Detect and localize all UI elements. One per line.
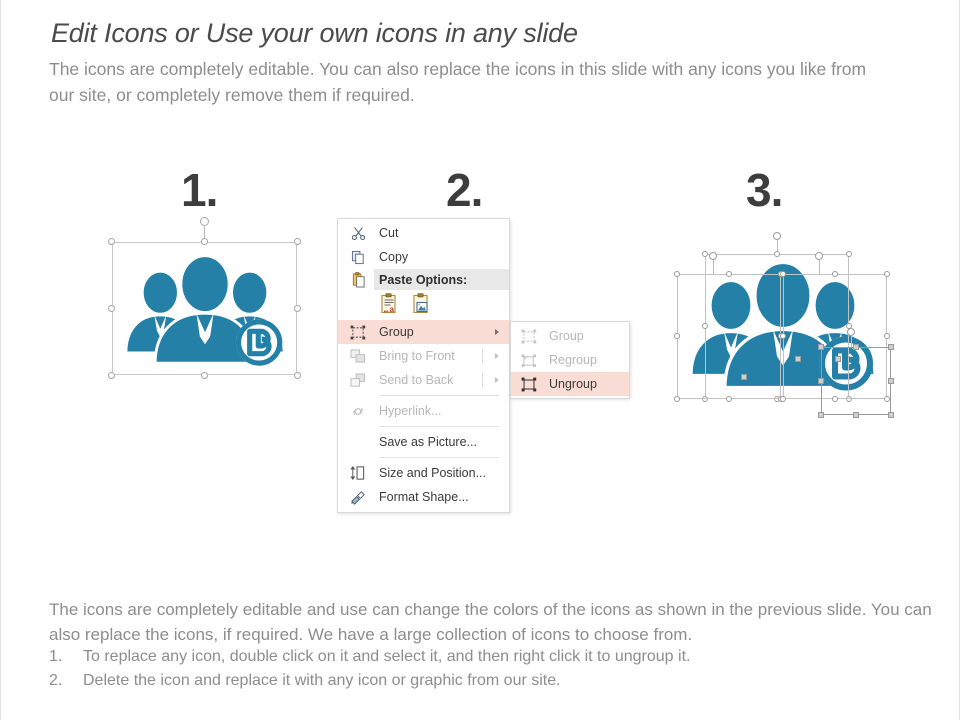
handle-badge-se[interactable] xyxy=(888,412,894,418)
menu-divider-vertical xyxy=(482,349,483,363)
list-item-text: Delete the icon and replace it with any … xyxy=(83,669,561,693)
context-submenu-group[interactable]: Group Regroup Ungroup xyxy=(510,321,630,399)
handle-right-se[interactable] xyxy=(884,396,890,402)
resize-handle-nw[interactable] xyxy=(108,238,115,245)
footer-list: 1. To replace any icon, double click on … xyxy=(49,645,929,693)
rotate-handle-center[interactable] xyxy=(773,232,781,240)
paste-keep-text-icon[interactable]: a xyxy=(379,293,399,317)
menu-item-label: Cut xyxy=(379,226,398,240)
handle-left-sw[interactable] xyxy=(674,396,680,402)
menu-item-label: Size and Position... xyxy=(379,466,486,480)
group-icon xyxy=(348,323,368,341)
menu-item-label: Save as Picture... xyxy=(379,435,477,449)
context-menu[interactable]: Cut Copy Paste Options: xyxy=(337,218,510,513)
team-users-blogger-icon-3[interactable] xyxy=(683,252,883,397)
bring-to-front-icon xyxy=(348,347,368,365)
chevron-right-icon xyxy=(495,353,499,359)
paste-icon xyxy=(348,271,368,289)
submenu-item-label: Regroup xyxy=(549,353,597,367)
list-item-number: 1. xyxy=(49,645,83,669)
scissors-icon xyxy=(348,224,368,242)
handle-left-nw[interactable] xyxy=(674,271,680,277)
page-title: Edit Icons or Use your own icons in any … xyxy=(51,18,578,49)
size-and-position-icon xyxy=(348,464,368,482)
menu-item-copy[interactable]: Copy xyxy=(338,245,509,269)
step-number-3: 3. xyxy=(746,163,782,217)
rotate-handle[interactable] xyxy=(200,217,209,226)
resize-handle-n[interactable] xyxy=(201,238,208,245)
page-subtitle: The icons are completely editable. You c… xyxy=(49,56,879,108)
menu-item-label: Bring to Front xyxy=(379,349,455,363)
resize-handle-s[interactable] xyxy=(201,372,208,379)
slide-canvas: Edit Icons or Use your own icons in any … xyxy=(0,0,960,720)
regroup-icon xyxy=(519,351,539,369)
menu-paste-options-header: Paste Options: xyxy=(338,269,509,290)
menu-divider-1 xyxy=(379,395,499,396)
menu-item-label: Hyperlink... xyxy=(379,404,442,418)
hyperlink-icon xyxy=(348,402,368,420)
menu-item-label: Format Shape... xyxy=(379,490,469,504)
submenu-item-label: Group xyxy=(549,329,584,343)
menu-item-group[interactable]: Group xyxy=(338,320,509,344)
menu-item-send-to-back[interactable]: Send to Back xyxy=(338,368,509,392)
handle-badge-ne[interactable] xyxy=(888,344,894,350)
resize-handle-sw[interactable] xyxy=(108,372,115,379)
chevron-right-icon xyxy=(495,377,499,383)
ungroup-icon xyxy=(519,375,539,393)
format-shape-icon xyxy=(348,488,368,506)
menu-divider-vertical xyxy=(482,373,483,387)
send-to-back-icon xyxy=(348,371,368,389)
handle-left-w[interactable] xyxy=(674,333,680,339)
list-item-text: To replace any icon, double click on it … xyxy=(83,645,690,669)
handle-badge-e[interactable] xyxy=(888,378,894,384)
step-number-1: 1. xyxy=(181,163,217,217)
handle-right-e[interactable] xyxy=(884,333,890,339)
step-number-2: 2. xyxy=(446,163,482,217)
copy-icon xyxy=(348,248,368,266)
menu-item-label: Group xyxy=(379,325,414,339)
menu-item-label: Copy xyxy=(379,250,408,264)
svg-text:a: a xyxy=(390,305,395,314)
list-item: 2. Delete the icon and replace it with a… xyxy=(49,669,929,693)
submenu-item-regroup[interactable]: Regroup xyxy=(511,348,629,372)
menu-divider-2 xyxy=(379,426,499,427)
menu-item-cut[interactable]: Cut xyxy=(338,221,509,245)
resize-handle-e[interactable] xyxy=(294,305,301,312)
list-item: 1. To replace any icon, double click on … xyxy=(49,645,929,669)
menu-divider-3 xyxy=(379,457,499,458)
menu-item-hyperlink[interactable]: Hyperlink... xyxy=(338,399,509,423)
menu-item-bring-to-front[interactable]: Bring to Front xyxy=(338,344,509,368)
blogger-badge xyxy=(819,337,873,391)
handle-badge-sw[interactable] xyxy=(818,412,824,418)
handle-right-ne[interactable] xyxy=(884,271,890,277)
paste-picture-icon[interactable] xyxy=(411,293,431,317)
submenu-item-group[interactable]: Group xyxy=(511,324,629,348)
group-icon xyxy=(519,327,539,345)
menu-item-format-shape[interactable]: Format Shape... xyxy=(338,485,509,509)
paste-options-row[interactable]: a xyxy=(338,290,509,320)
menu-item-size-and-position[interactable]: Size and Position... xyxy=(338,461,509,485)
submenu-item-label: Ungroup xyxy=(549,377,597,391)
selection-bounding-box xyxy=(112,242,297,375)
footer-paragraph: The icons are completely editable and us… xyxy=(49,597,937,647)
menu-item-label: Send to Back xyxy=(379,373,453,387)
submenu-item-ungroup[interactable]: Ungroup xyxy=(511,372,629,396)
resize-handle-w[interactable] xyxy=(108,305,115,312)
paste-options-label: Paste Options: xyxy=(379,273,467,287)
menu-item-save-as-picture[interactable]: Save as Picture... xyxy=(338,430,509,454)
chevron-right-icon xyxy=(495,329,499,335)
resize-handle-ne[interactable] xyxy=(294,238,301,245)
resize-handle-se[interactable] xyxy=(294,372,301,379)
list-item-number: 2. xyxy=(49,669,83,693)
handle-badge-s[interactable] xyxy=(853,412,859,418)
selection-frame-grouped[interactable] xyxy=(112,242,297,375)
